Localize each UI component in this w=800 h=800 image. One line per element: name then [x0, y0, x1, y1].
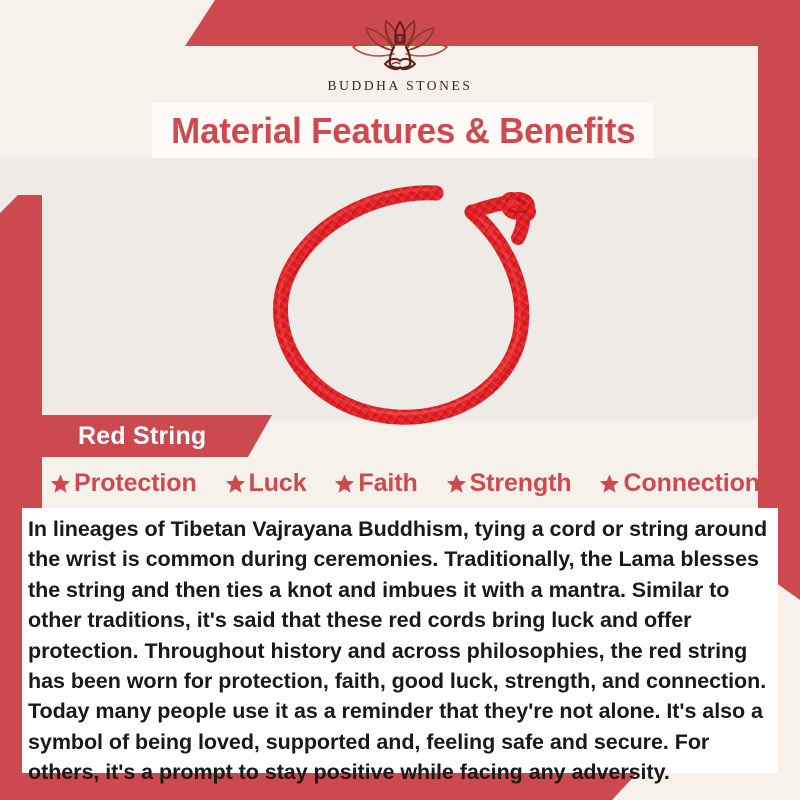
feature-label: Luck: [249, 469, 307, 498]
star-icon: [225, 473, 246, 494]
star-icon: [599, 473, 620, 494]
feature-label: Strength: [470, 469, 572, 498]
brand-name: BUDDHA STONES: [328, 78, 473, 94]
feature-label: Faith: [358, 469, 417, 498]
lotus-meditation-figure-icon: [344, 14, 456, 76]
feature-item-strength: Strength: [446, 469, 572, 498]
product-name-label: Red String: [78, 422, 206, 451]
product-name-banner: Red String: [24, 415, 272, 457]
feature-item-faith: Faith: [334, 469, 417, 498]
infographic-page: BUDDHA STONES Material Features & Benefi…: [0, 0, 800, 800]
red-string-bracelet-image: [250, 168, 580, 430]
description-paragraph: In lineages of Tibetan Vajrayana Buddhis…: [28, 514, 768, 788]
feature-item-connection: Connection: [599, 469, 760, 498]
feature-item-luck: Luck: [225, 469, 307, 498]
star-icon: [446, 473, 467, 494]
feature-label: Connection: [623, 469, 760, 498]
feature-list: Protection Luck Faith Strength Connectio…: [50, 464, 760, 502]
star-icon: [334, 473, 355, 494]
product-photo: [250, 168, 580, 430]
page-title: Material Features & Benefits: [171, 110, 635, 152]
description-block: In lineages of Tibetan Vajrayana Buddhis…: [22, 508, 778, 773]
feature-label: Protection: [74, 469, 197, 498]
title-band: Material Features & Benefits: [152, 103, 654, 158]
brand-logo: BUDDHA STONES: [0, 14, 800, 100]
star-icon: [50, 473, 71, 494]
feature-item-protection: Protection: [50, 469, 197, 498]
